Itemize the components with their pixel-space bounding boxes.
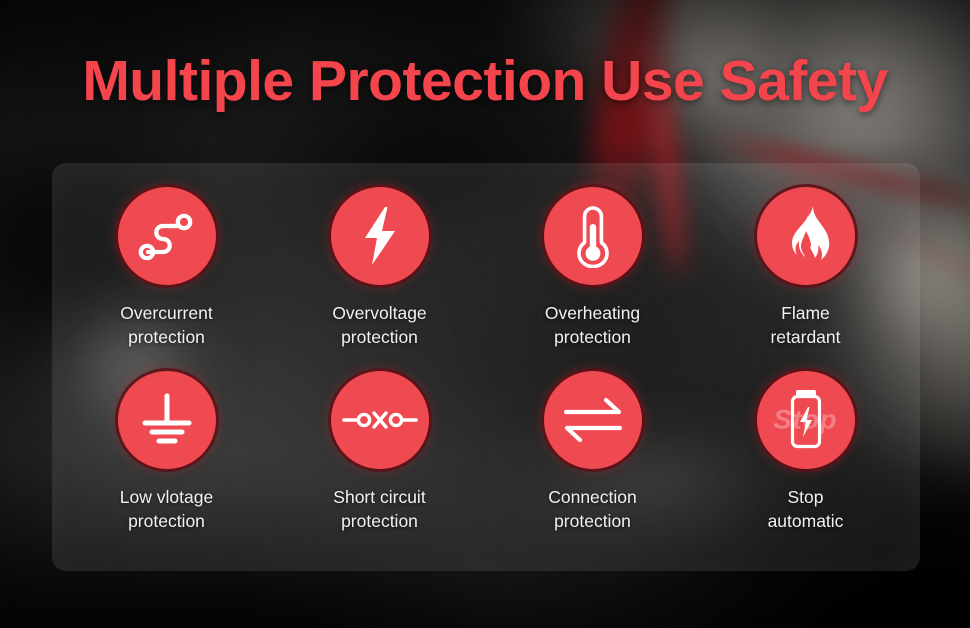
battery-stop-icon xyxy=(785,387,827,453)
stop-automatic-label-line1: Stop xyxy=(788,487,824,507)
feature-item-overvoltage[interactable]: Overvoltage protection xyxy=(273,187,486,371)
feature-item-connection[interactable]: Connection protection xyxy=(486,371,699,555)
short-circuit-label-line2: protection xyxy=(333,509,425,533)
thermometer-icon xyxy=(573,204,613,268)
overcurrent-s-curve-icon xyxy=(137,208,197,264)
promo-banner: Multiple Protection Use Safety xyxy=(0,0,970,628)
low-voltage-label-line1: Low vlotage xyxy=(120,487,213,507)
overvoltage-label: Overvoltage protection xyxy=(332,301,426,349)
feature-item-stop-automatic[interactable]: Stop Stop automatic xyxy=(699,371,912,555)
overvoltage-label-line1: Overvoltage xyxy=(332,303,426,323)
overvoltage-label-line2: protection xyxy=(332,325,426,349)
low-voltage-label: Low vlotage protection xyxy=(120,485,213,533)
feature-item-flame[interactable]: Flame retardant xyxy=(699,187,912,371)
connection-badge[interactable] xyxy=(544,371,642,469)
overcurrent-label: Overcurrent protection xyxy=(120,301,212,349)
connection-label-line1: Connection xyxy=(548,487,637,507)
feature-item-overcurrent[interactable]: Overcurrent protection xyxy=(60,187,273,371)
flame-label-line2: retardant xyxy=(770,325,840,349)
overvoltage-badge[interactable] xyxy=(331,187,429,285)
flame-badge[interactable] xyxy=(757,187,855,285)
low-voltage-label-line2: protection xyxy=(120,509,213,533)
flame-label-line1: Flame xyxy=(781,303,830,323)
feature-item-low-voltage[interactable]: Low vlotage protection xyxy=(60,371,273,555)
connection-label: Connection protection xyxy=(548,485,637,533)
connection-label-line2: protection xyxy=(548,509,637,533)
flame-icon xyxy=(779,205,833,267)
short-circuit-badge[interactable] xyxy=(331,371,429,469)
feature-item-overheating[interactable]: Overheating protection xyxy=(486,187,699,371)
ground-earth-icon xyxy=(139,391,195,449)
reverse-arrows-icon xyxy=(562,394,624,446)
stop-automatic-badge[interactable]: Stop xyxy=(757,371,855,469)
overheating-label-line2: protection xyxy=(545,325,640,349)
feature-item-short-circuit[interactable]: Short circuit protection xyxy=(273,371,486,555)
lightning-bolt-icon xyxy=(358,205,402,267)
overcurrent-label-line2: protection xyxy=(120,325,212,349)
low-voltage-badge[interactable] xyxy=(118,371,216,469)
stop-automatic-label-line2: automatic xyxy=(768,509,844,533)
feature-grid: Overcurrent protection Overvoltage prote… xyxy=(52,163,920,571)
overheating-label-line1: Overheating xyxy=(545,303,640,323)
overheating-badge[interactable] xyxy=(544,187,642,285)
flame-label: Flame retardant xyxy=(770,301,840,349)
feature-panel: Overcurrent protection Overvoltage prote… xyxy=(52,163,920,571)
short-circuit-x-icon xyxy=(342,405,418,435)
short-circuit-label-line1: Short circuit xyxy=(333,487,425,507)
short-circuit-label: Short circuit protection xyxy=(333,485,425,533)
stop-automatic-label: Stop automatic xyxy=(768,485,844,533)
page-title: Multiple Protection Use Safety xyxy=(0,52,970,112)
overcurrent-label-line1: Overcurrent xyxy=(120,303,212,323)
overheating-label: Overheating protection xyxy=(545,301,640,349)
overcurrent-badge[interactable] xyxy=(118,187,216,285)
